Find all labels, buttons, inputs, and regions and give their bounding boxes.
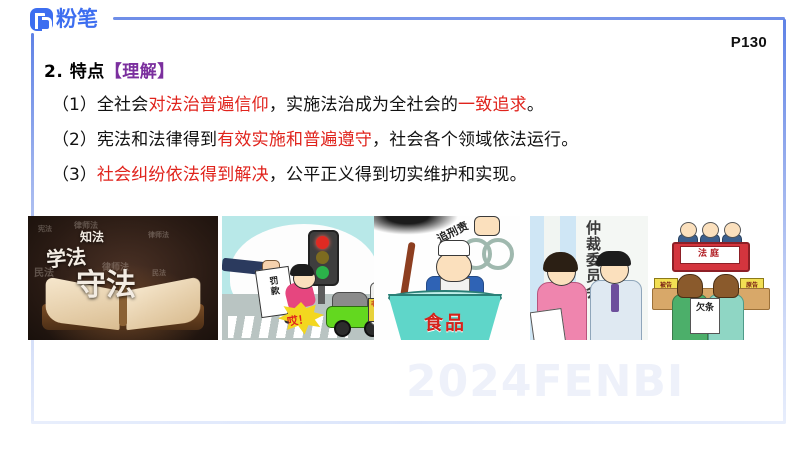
body-line-seg: ，实施法治成为全社会的 [269,95,458,115]
application-form-paper [530,308,566,340]
body-line-seg: ，社会各个领域依法运行。 [372,130,578,150]
arbitration-woman-figure [534,256,588,340]
frame-top-border [113,17,785,20]
food-label-text: 食品 [408,308,482,335]
image-book-study-law: 宪法 律师法 知法 律师法 学法 民法 律师法 民法 守法 [28,216,218,340]
party-head [677,274,703,298]
judge-head [724,222,741,238]
iou-note: 欠条 [690,298,720,334]
page-title: 2. 特点【理解】 [44,57,175,82]
body-lines: （1）全社会对法治普遍信仰，实施法治成为全社会的一致追求。 （2）宪法和法律得到… [52,88,752,193]
page-title-index: 2. 特点 [44,62,105,82]
arbitration-man-figure [586,254,644,340]
frame-bottom-border [31,421,786,424]
body-line-seg: 。 [527,95,544,115]
court-scene: 法庭 被告 原告 欠条 [648,216,770,340]
book-word-small: 律师法 [148,230,169,240]
body-line: （2）宪法和法律得到有效实施和普遍遵守，社会各个领域依法运行。 [52,123,752,158]
man-tie [611,284,619,312]
image-arbitration-court: 仲裁委员会 [530,216,770,340]
body-line-seg: 全社会 [97,95,149,115]
body-line-seg: 宪法和法律得到 [97,130,217,150]
fb-logo-icon [30,8,53,31]
image-traffic-food-cartoon: 罚款 哎！ 非法食品添加剂 [222,216,520,340]
book-word-small: 民法 [152,268,166,278]
traffic-light-red [316,236,329,249]
body-line-seg: ，公平正义得到切实维护和实现。 [269,165,527,185]
watermark-text: 2024FENBI [406,356,684,407]
court-bench-label: 法庭 [680,246,740,264]
body-line: （1）全社会对法治普遍信仰，实施法治成为全社会的一致追求。 [52,88,752,123]
chef-hat-icon [438,240,470,256]
body-line-seg-highlight: 对法治普遍信仰 [148,95,268,115]
iou-note-text: 欠条 [691,299,719,314]
party-head [713,274,739,298]
traffic-light-yellow [316,251,329,264]
body-line-seg-highlight: 有效实施和普遍遵守 [217,130,372,150]
judge-head [702,222,719,238]
slide-root: 粉笔 P130 2. 特点【理解】 （1）全社会对法治普遍信仰，实施法治成为全社… [0,0,800,450]
brand-logo: 粉笔 [30,8,98,31]
body-line-seg-highlight: 社会纠纷依法得到解决 [97,165,269,185]
man-hair [596,251,631,266]
illustration-strip: 宪法 律师法 知法 律师法 学法 民法 律师法 民法 守法 [28,216,770,340]
arresting-hand-icon [474,216,500,236]
jaywalker-hair [290,264,314,276]
book-word-small: 宪法 [38,224,52,234]
judge-head [680,222,697,238]
page-number: P130 [731,34,767,51]
body-line-number: （3） [52,165,97,185]
body-line-number: （1） [52,95,97,115]
body-line-seg-highlight: 一致追求 [458,95,527,115]
book-word-main: 守法 [76,260,136,304]
body-line: （3）社会纠纷依法得到解决，公平正义得到切实维护和实现。 [52,158,752,193]
page-title-tag: 【理解】 [105,62,175,82]
brand-logo-text: 粉笔 [56,8,98,31]
body-line-number: （2） [52,130,97,150]
car-wheel [334,320,351,337]
chef-head [436,252,472,282]
fine-ticket-text: 罚款 [266,275,282,297]
frame-right-border [783,19,786,423]
